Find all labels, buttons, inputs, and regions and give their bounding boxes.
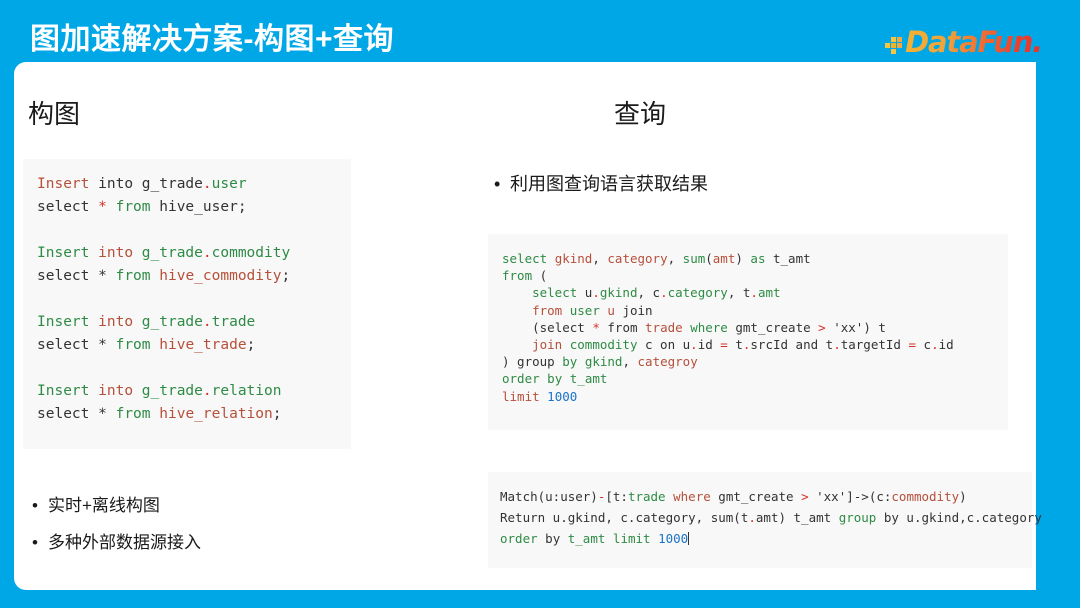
code-token: by (562, 354, 577, 369)
section-heading-query: 查询 (614, 94, 666, 131)
code-line: (select * from trade where gmt_create > … (502, 319, 1008, 336)
code-token: select (37, 199, 89, 215)
code-token: 1000 (658, 531, 688, 546)
code-line: ) group by gkind, categroy (502, 353, 1008, 370)
code-token: = (720, 337, 728, 352)
bullet-dot-icon: • (32, 532, 48, 554)
code-token: . (750, 285, 758, 300)
code-line: Match(u:user)-[t:trade where gmt_create … (500, 486, 1032, 507)
bullet-dot-icon: • (494, 172, 510, 196)
code-token: u (577, 285, 592, 300)
bullet-dot-icon: • (32, 495, 48, 517)
code-line: order by t_amt (502, 370, 1008, 387)
datafun-logo: DataFun. (885, 26, 1042, 58)
code-token: limit (613, 531, 651, 546)
code-token: ( (502, 320, 540, 335)
code-token: t_amt (570, 371, 608, 386)
code-line: Return u.gkind, c.category, sum(t.amt) t… (500, 507, 1032, 528)
code-token: . (203, 314, 212, 330)
code-token: ) (959, 489, 967, 504)
code-token (562, 303, 570, 318)
code-token: from (116, 199, 151, 215)
code-line: limit 1000 (502, 388, 1008, 405)
code-token: trade (645, 320, 683, 335)
code-token: order (502, 371, 540, 386)
code-token (89, 314, 98, 330)
code-token (89, 199, 98, 215)
code-token: c (916, 337, 931, 352)
code-token: , c (638, 285, 661, 300)
code-token: trade (212, 314, 256, 330)
code-token: Insert (37, 383, 89, 399)
code-token: hive_relation (159, 406, 273, 422)
code-line: select * from hive_trade; (37, 334, 351, 357)
code-token (89, 406, 98, 422)
code-block-build[interactable]: Insert into g_trade.userselect * from hi… (23, 159, 351, 449)
bullet-label: 实时+离线构图 (48, 495, 160, 517)
code-token: category (607, 251, 667, 266)
code-token: > (801, 489, 809, 504)
code-token: ( (532, 268, 547, 283)
code-token: g_trade (133, 176, 203, 192)
code-token: select (502, 251, 547, 266)
code-token: gkind (585, 354, 623, 369)
code-token (605, 531, 613, 546)
code-token: * (98, 268, 107, 284)
code-token: user (570, 303, 600, 318)
code-token (151, 268, 160, 284)
code-token (562, 371, 570, 386)
code-token: , t (728, 285, 751, 300)
code-token (89, 337, 98, 353)
code-token: join (532, 337, 562, 352)
code-token: = (908, 337, 916, 352)
code-line: Insert into g_trade.user (37, 173, 351, 196)
code-token: order (500, 531, 538, 546)
code-token: group (839, 510, 877, 525)
code-token (89, 245, 98, 261)
code-line: join commodity c on u.id = t.srcId and t… (502, 336, 1008, 353)
code-token: Insert (37, 314, 89, 330)
content-card: 构图 查询 Insert into g_trade.userselect * f… (14, 62, 1036, 590)
slide-header: 图加速解决方案-构图+查询 DataFun. (0, 0, 1080, 62)
code-token: . (203, 383, 212, 399)
code-token: ; (273, 406, 282, 422)
code-token (547, 251, 555, 266)
bullet-item-datasources: • 多种外部数据源接入 (32, 532, 201, 554)
code-token: amt) t_amt (756, 510, 839, 525)
code-token: select (37, 337, 89, 353)
code-block-cypher-query[interactable]: Match(u:user)-[t:trade where gmt_create … (488, 472, 1032, 568)
code-token (562, 337, 570, 352)
code-line: Insert into g_trade.relation (37, 380, 351, 403)
code-token: ; (247, 337, 256, 353)
code-token: amt (713, 251, 736, 266)
code-line: select u.gkind, c.category, t.amt (502, 284, 1008, 301)
code-token: from (532, 303, 562, 318)
code-token: select (540, 320, 585, 335)
code-token: from (116, 406, 151, 422)
code-token: ) (735, 251, 750, 266)
code-token: ; (281, 268, 290, 284)
code-token: * (592, 320, 600, 335)
code-token: g_trade (142, 245, 203, 261)
code-token (107, 337, 116, 353)
code-token (502, 285, 532, 300)
code-token: , (668, 251, 683, 266)
code-token: gmt_create (711, 489, 801, 504)
bullet-item-query-language: • 利用图查询语言获取结果 (494, 172, 708, 196)
code-token: ) group (502, 354, 562, 369)
code-token: Insert (37, 245, 89, 261)
code-token (89, 176, 98, 192)
code-token: . (748, 510, 756, 525)
code-token: user (212, 176, 247, 192)
code-token: id (939, 337, 954, 352)
code-token: [t: (605, 489, 628, 504)
code-token (651, 531, 659, 546)
code-token: hive_user; (151, 199, 247, 215)
code-token: select (37, 268, 89, 284)
code-token (502, 303, 532, 318)
code-token (133, 245, 142, 261)
code-token: 'xx']->(c: (809, 489, 892, 504)
code-token: 'xx') t (826, 320, 886, 335)
code-token: by u.gkind,c.category (876, 510, 1042, 525)
code-token: . (203, 176, 212, 192)
bullet-label: 利用图查询语言获取结果 (510, 172, 708, 196)
code-token (577, 354, 585, 369)
code-line (37, 288, 351, 311)
code-token: into (98, 383, 133, 399)
code-token: . (931, 337, 939, 352)
code-token: where (673, 489, 711, 504)
code-token: amt (758, 285, 781, 300)
text-caret (688, 532, 689, 545)
pixel-dots-icon (885, 37, 902, 54)
code-token: select (37, 406, 89, 422)
code-line: from user u join (502, 302, 1008, 319)
code-line (37, 357, 351, 380)
code-token (107, 268, 116, 284)
code-token: id (698, 337, 721, 352)
page-title: 图加速解决方案-构图+查询 (30, 14, 394, 58)
code-token: Return u.gkind, c.category, sum(t (500, 510, 748, 525)
code-token: . (833, 337, 841, 352)
code-line: select * from hive_user; (37, 196, 351, 219)
code-token (502, 337, 532, 352)
code-line: select gkind, category, sum(amt) as t_am… (502, 250, 1008, 267)
code-token: * (98, 337, 107, 353)
code-line: Insert into g_trade.trade (37, 311, 351, 334)
code-token: t_amt (568, 531, 606, 546)
code-token: limit (502, 389, 540, 404)
code-line: select * from hive_commodity; (37, 265, 351, 288)
code-token: by (547, 371, 562, 386)
code-token: , (592, 251, 607, 266)
code-token: trade (628, 489, 666, 504)
code-token (107, 199, 116, 215)
code-token: * (98, 406, 107, 422)
code-line: order by t_amt limit 1000 (500, 528, 1032, 549)
code-token (151, 337, 160, 353)
code-token: commodity (570, 337, 638, 352)
bullet-item-realtime: • 实时+离线构图 (32, 495, 160, 517)
code-token (666, 489, 674, 504)
code-block-sql-query[interactable]: select gkind, category, sum(amt) as t_am… (488, 234, 1008, 430)
code-token: commodity (891, 489, 959, 504)
code-token: t (728, 337, 743, 352)
bullet-label: 多种外部数据源接入 (48, 532, 201, 554)
code-token: Insert (37, 176, 89, 192)
code-token: into (98, 245, 133, 261)
code-token: > (818, 320, 826, 335)
code-token: t_amt (765, 251, 810, 266)
code-token: ( (705, 251, 713, 266)
code-token: from (116, 268, 151, 284)
logo-wordmark: DataFun. (905, 28, 1042, 57)
code-token: categroy (638, 354, 698, 369)
code-token: sum (683, 251, 706, 266)
code-token: from (502, 268, 532, 283)
code-token: category (668, 285, 728, 300)
code-token: hive_trade (159, 337, 246, 353)
code-token: . (203, 245, 212, 261)
code-token: . (592, 285, 600, 300)
code-token: u (607, 303, 615, 318)
code-token: g_trade (142, 314, 203, 330)
code-token: from (116, 337, 151, 353)
code-token: gkind (555, 251, 593, 266)
code-token: gmt_create (728, 320, 818, 335)
code-token: srcId and t (750, 337, 833, 352)
code-token: hive_commodity (159, 268, 281, 284)
code-token: select (532, 285, 577, 300)
code-token (107, 406, 116, 422)
code-token: as (750, 251, 765, 266)
code-token: gkind (600, 285, 638, 300)
code-token: * (98, 199, 107, 215)
code-token (89, 268, 98, 284)
code-token: join (615, 303, 653, 318)
code-token: , (622, 354, 637, 369)
code-token: from (607, 320, 637, 335)
code-token: where (690, 320, 728, 335)
code-token: into (98, 314, 133, 330)
section-heading-build: 构图 (28, 94, 80, 131)
code-token (133, 383, 142, 399)
code-token (638, 320, 646, 335)
code-token: . (690, 337, 698, 352)
code-token (89, 383, 98, 399)
code-line: Insert into g_trade.commodity (37, 242, 351, 265)
code-line: select * from hive_relation; (37, 403, 351, 426)
code-token: c on u (637, 337, 690, 352)
code-token: targetId (841, 337, 909, 352)
code-line (37, 219, 351, 242)
code-token: Match(u:user) (500, 489, 598, 504)
code-token: 1000 (547, 389, 577, 404)
code-token: by (538, 531, 568, 546)
code-token (133, 314, 142, 330)
code-token (151, 406, 160, 422)
code-token: into (98, 176, 133, 192)
code-token: g_trade (142, 383, 203, 399)
code-token: relation (212, 383, 282, 399)
code-line: from ( (502, 267, 1008, 284)
code-token: . (660, 285, 668, 300)
code-token: commodity (212, 245, 291, 261)
